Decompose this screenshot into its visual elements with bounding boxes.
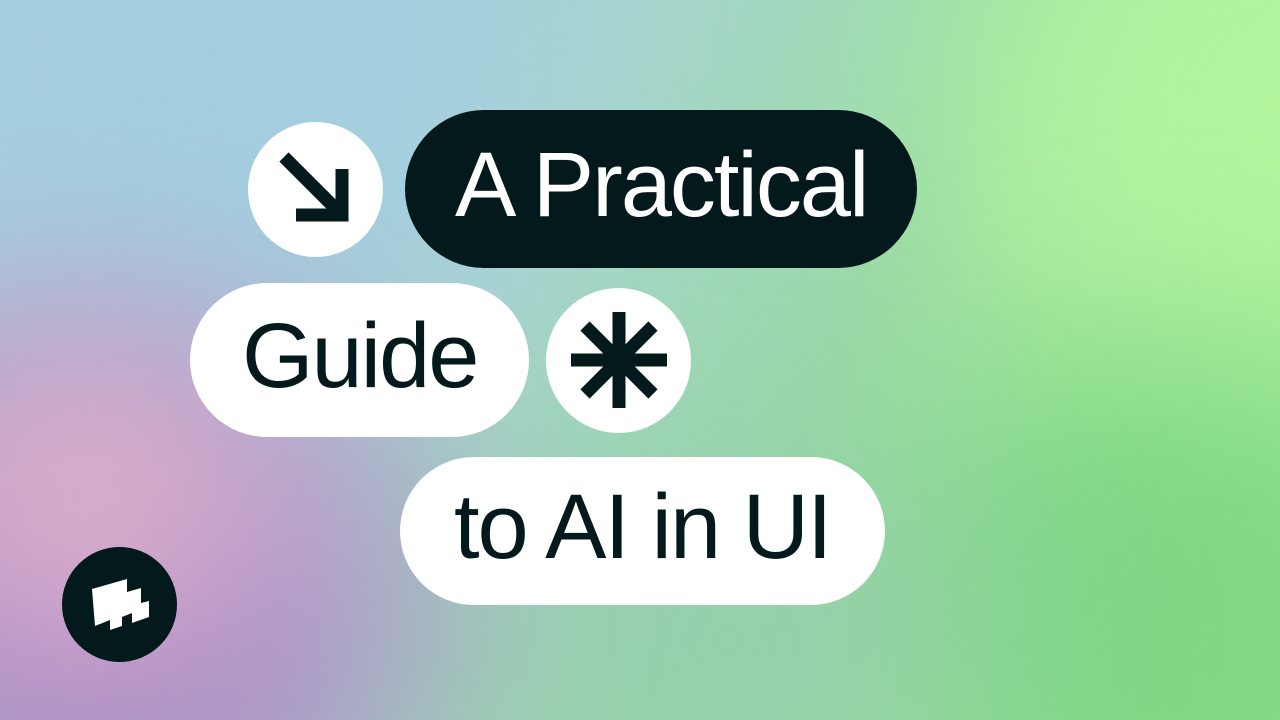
brand-mark-icon [86,576,154,634]
headline-row-3: to AI in UI [400,457,885,605]
arrow-down-right-icon [272,145,360,233]
poster-canvas: A Practical Guide to AI in UI [0,0,1280,720]
brand-logo [62,547,177,662]
arrow-down-right-badge [248,122,383,257]
headline-row-1: A Practical [248,110,917,268]
asterisk-badge [546,288,691,433]
headline-pill-guide: Guide [190,283,529,437]
headline-pill-a-practical: A Practical [405,110,917,268]
headline-pill-to-ai-in-ui: to AI in UI [400,457,885,605]
asterisk-icon [568,309,670,411]
headline-block: A Practical Guide to AI in UI [0,0,1280,720]
headline-row-2: Guide [190,283,691,437]
